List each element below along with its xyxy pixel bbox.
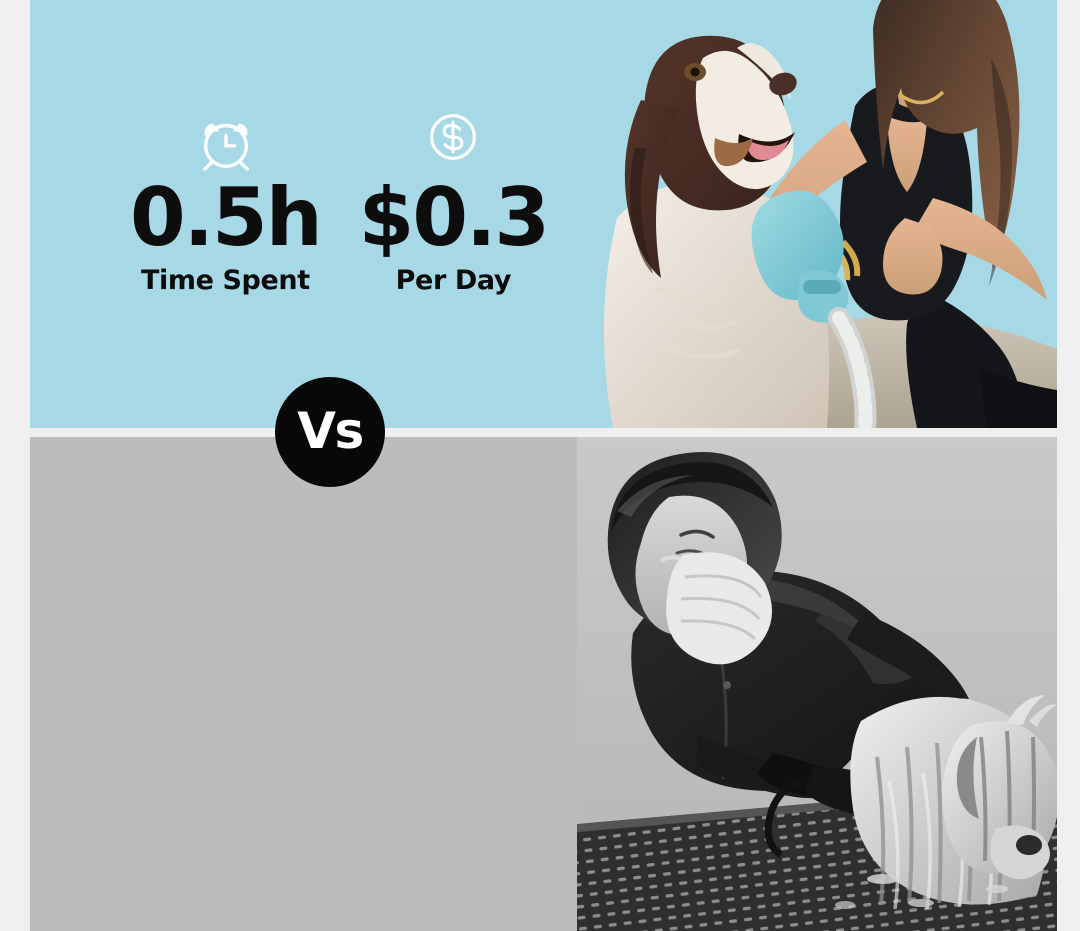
masked-groomer-clipping-yorkshire-terrier-photo bbox=[577, 437, 1057, 931]
stat-time-spent-self-groom: 0.5h Time Spent bbox=[122, 112, 329, 296]
dollar-circle-icon bbox=[422, 106, 484, 168]
stat-value: $0.3 bbox=[359, 180, 548, 257]
alarm-clock-icon bbox=[195, 112, 257, 174]
stat-value: 0.5h bbox=[130, 180, 321, 257]
woman-grooming-spaniel-with-vacuum-photo bbox=[587, 0, 1057, 428]
comparison-infographic: p g bbox=[0, 0, 1080, 931]
comparison-option-self-groom: 0.5h Time Spent $0.3 Per Day bbox=[30, 0, 1057, 428]
stat-label: Per Day bbox=[396, 265, 511, 296]
stats-row-self-groom: 0.5h Time Spent $0.3 Per Day bbox=[122, 106, 556, 296]
comparison-option-groomer-visit: 5h+ Time Spent $75+ Per Session bbox=[30, 437, 1057, 931]
vs-badge-label: Vs bbox=[297, 406, 362, 456]
stat-cost-self-groom: $0.3 Per Day bbox=[351, 106, 556, 296]
vs-badge: Vs bbox=[275, 377, 385, 487]
stat-label: Time Spent bbox=[141, 265, 310, 296]
